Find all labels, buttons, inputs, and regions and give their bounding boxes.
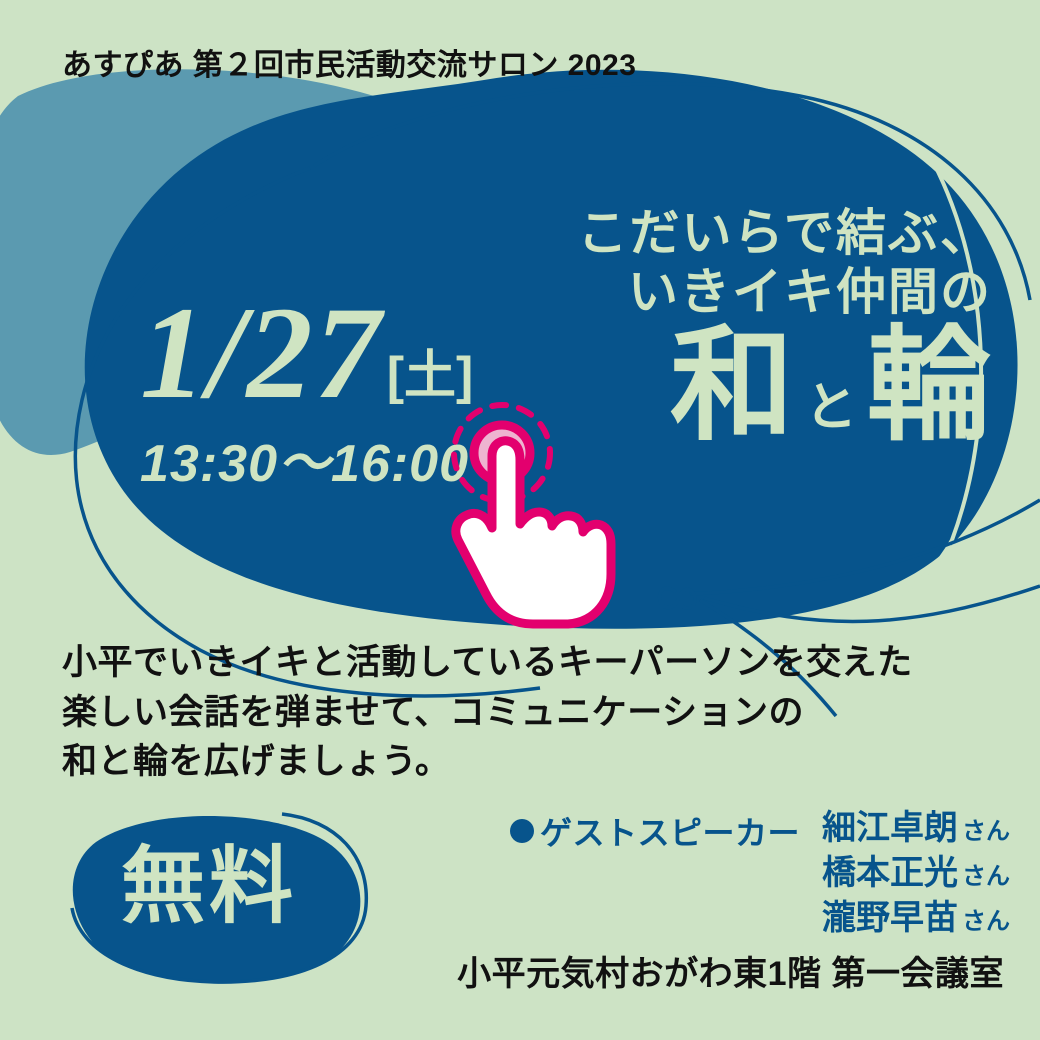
event-time: 13:30〜16:00 [140,421,473,496]
speaker-name: 細江卓朗 [822,809,958,847]
free-badge: 無料 [76,818,342,954]
guest-speakers-list: 細江卓朗さん 橋本正光さん 瀧野早苗さん [822,806,1010,942]
string-knot [660,588,695,608]
speaker-name: 橋本正光 [822,854,958,892]
headline-keyword-joiner: と [795,382,867,448]
headline-keyword-wa: 和 [670,324,795,448]
event-date-line: 1/27 [土] [140,290,473,415]
speaker-honorific: さん [962,818,1010,845]
list-item: 橋本正光さん [822,851,1010,896]
venue-text: 小平元気村おがわ東1階 第一会議室 [457,946,1004,995]
event-poster: あすぴあ 第２回市民活動交流サロン 2023 1/27 [土] 13:30〜16… [0,0,1040,1040]
body-copy-line-1: 小平でいきイキと活動しているキーパーソンを交えた [62,638,913,688]
list-item: 瀧野早苗さん [822,896,1010,941]
page-title: あすぴあ 第２回市民活動交流サロン 2023 [62,40,636,84]
body-copy-line-2: 楽しい会話を弾ませて、コミュニケーションの [62,688,913,738]
event-weekday: [土] [387,352,474,401]
headline-line-2: いきイキ仲間の [578,263,993,322]
speaker-honorific: さん [962,863,1010,890]
speaker-honorific: さん [962,908,1010,935]
body-copy-line-3: 和と輪を広げましょう。 [62,737,913,787]
body-copy: 小平でいきイキと活動しているキーパーソンを交えた 楽しい会話を弾ませて、コミュニ… [62,638,913,787]
guest-speakers-label: ゲストスピーカー [540,808,800,854]
speaker-name: 瀧野早苗 [822,899,958,937]
guest-speakers-section: ゲストスピーカー 細江卓朗さん 橋本正光さん 瀧野早苗さん [510,806,1010,942]
headline-keyword-rin: 輪 [867,324,992,448]
list-item: 細江卓朗さん [822,806,1010,851]
headline-line-1: こだいらで結ぶ、 [578,204,993,263]
event-date: 1/27 [140,290,383,415]
free-badge-label: 無料 [121,844,297,928]
guest-speakers-heading: ゲストスピーカー [510,806,800,854]
pointing-hand-icon [440,398,640,630]
string-strand-middle [704,586,1040,621]
string-strand-upper [690,500,1040,594]
event-datetime: 1/27 [土] 13:30〜16:00 [140,290,473,496]
bullet-dot-icon [510,819,534,843]
